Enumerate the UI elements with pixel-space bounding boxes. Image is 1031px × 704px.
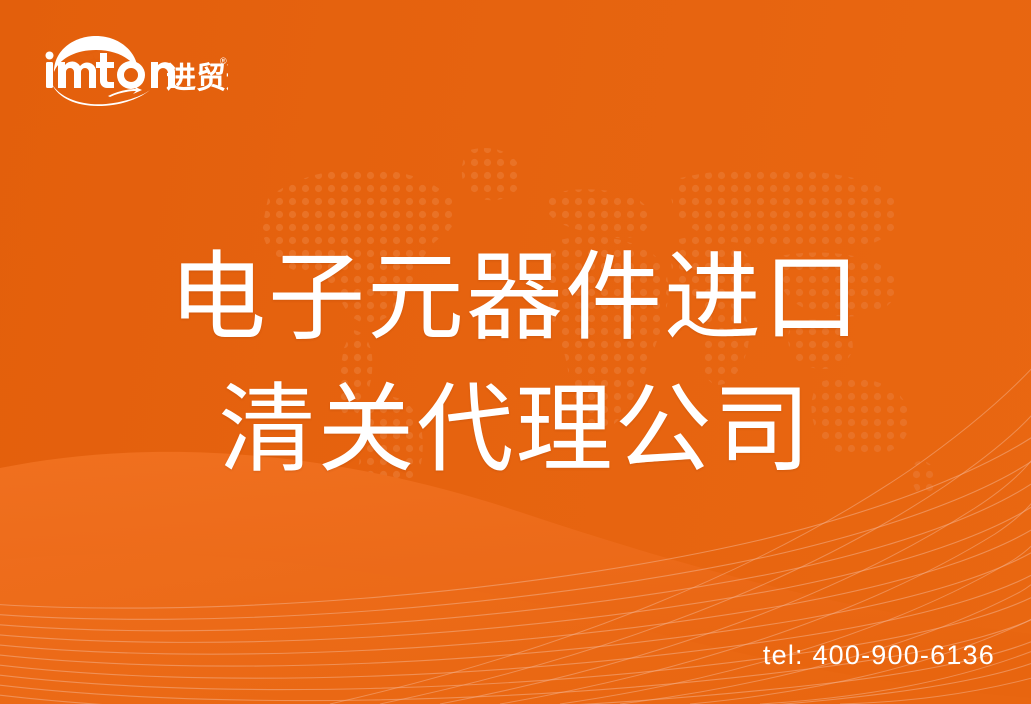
trademark-symbol: ® <box>220 56 227 66</box>
promo-banner: 进贸通 ® 电子元器件进口 清关代理公司 tel: 400-900-6136 <box>0 0 1031 704</box>
logo-chinese-name: 进贸通 <box>166 61 228 96</box>
swoosh-icon <box>52 84 150 106</box>
brand-logo[interactable]: 进贸通 ® <box>38 26 228 106</box>
telephone-number: tel: 400-900-6136 <box>763 640 995 671</box>
